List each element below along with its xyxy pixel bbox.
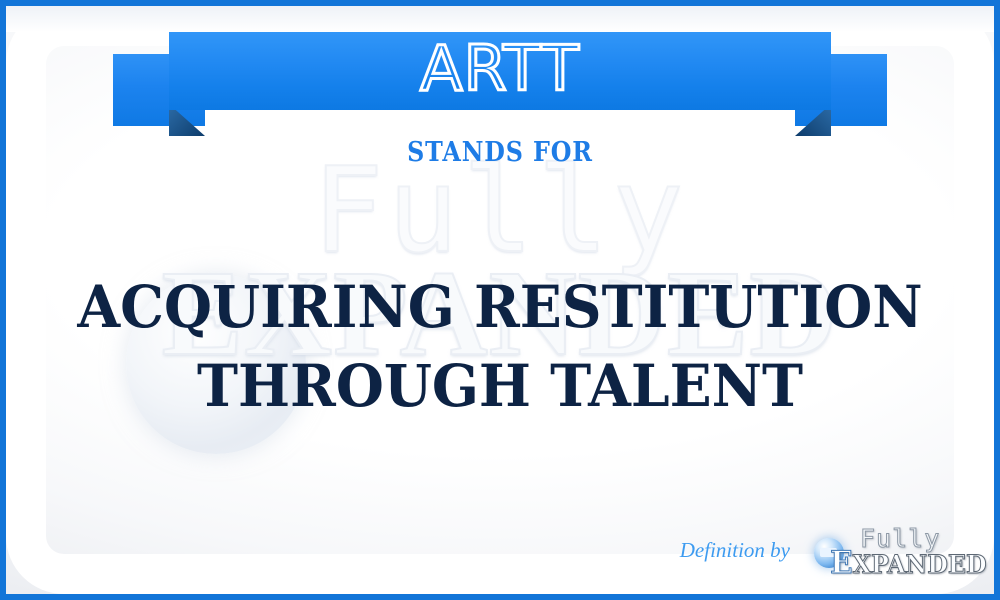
definition-line-1: ACQUIRING RESTITUTION — [44, 268, 956, 347]
ribbon-tail-right — [795, 54, 887, 126]
ribbon-fold-left — [169, 104, 205, 136]
logo-cap-letter: E — [830, 545, 852, 581]
poster-canvas: Fully EXPANDED ARTT STANDS FOR ACQUIRING… — [0, 0, 1000, 600]
ribbon-banner: ARTT STANDS FOR — [6, 32, 994, 152]
definition-text: ACQUIRING RESTITUTION THROUGH TALENT — [44, 268, 956, 426]
definition-line-2: THROUGH TALENT — [44, 347, 956, 426]
stands-for-label: STANDS FOR — [65, 137, 934, 168]
logo-word-expanded: EXPANDED — [830, 545, 986, 581]
logo-expanded-rest: XPANDED — [853, 550, 987, 579]
ribbon-fold-right — [795, 104, 831, 136]
fully-expanded-logo[interactable]: Fully EXPANDED — [812, 524, 970, 576]
definition-by-label: Definition by — [680, 538, 790, 563]
footer: Definition by Fully EXPANDED — [680, 524, 970, 576]
ribbon-body — [169, 32, 831, 110]
top-sheen — [6, 6, 994, 32]
acronym-title: ARTT — [6, 36, 994, 101]
ribbon-tail-left — [113, 54, 205, 126]
poster-card: Fully EXPANDED ARTT STANDS FOR ACQUIRING… — [6, 6, 994, 594]
watermark-fully: Fully — [6, 156, 994, 265]
